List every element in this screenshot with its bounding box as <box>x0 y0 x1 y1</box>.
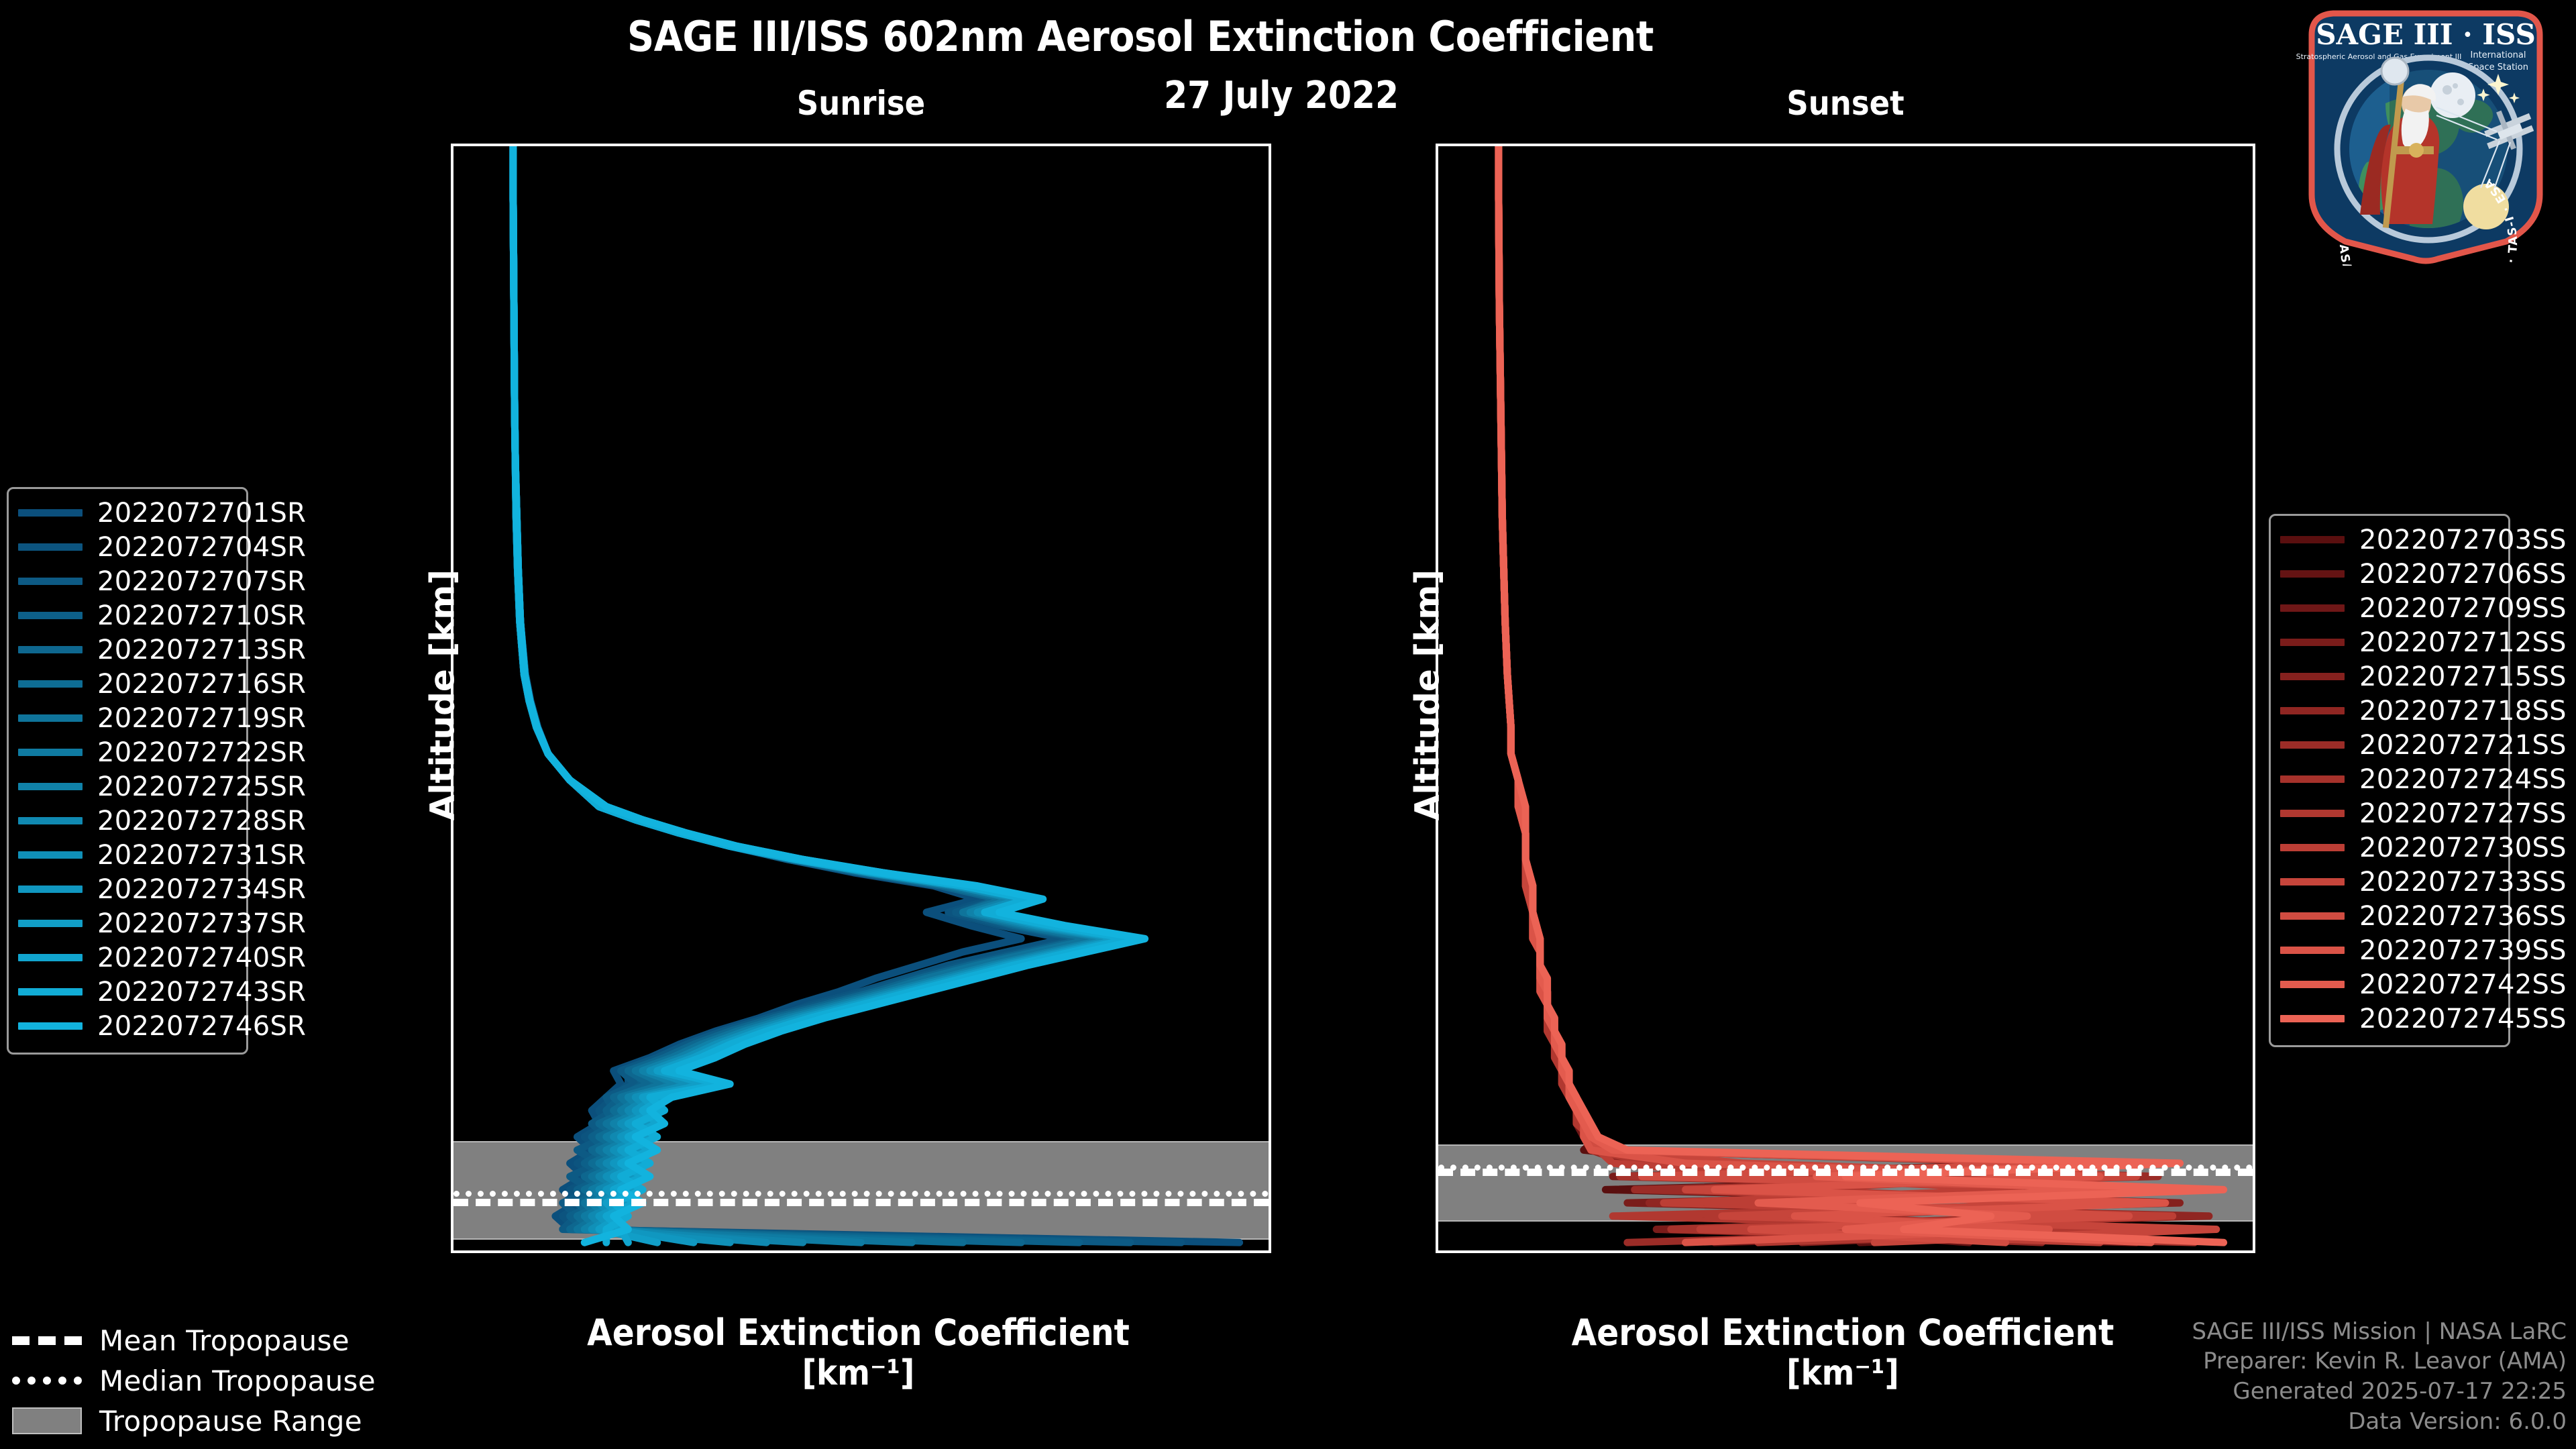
legend-color-swatch <box>2280 707 2345 714</box>
profile-line <box>1499 146 2209 1242</box>
legend-sunrise-item-row[interactable]: 2022072740SR <box>18 941 234 975</box>
legend-color-swatch <box>18 543 83 551</box>
credits-line-mission: SAGE III/ISS Mission | NASA LaRC <box>2192 1317 2567 1347</box>
profile-line <box>513 146 1094 1242</box>
x-axis-tick <box>802 1250 804 1253</box>
profile-line <box>513 146 1130 1242</box>
y-axis-title: Altitude [km] <box>1407 570 1446 821</box>
profile-line <box>513 146 1094 1242</box>
y-axis-tick <box>451 541 453 544</box>
legend-item-label: Tropopause Range <box>99 1405 362 1438</box>
legend-color-swatch <box>18 783 83 790</box>
credits-line-generated: Generated 2025-07-17 22:25 <box>2192 1377 2567 1407</box>
legend-color-swatch <box>2280 844 2345 851</box>
legend-color-swatch <box>18 749 83 756</box>
legend-color-swatch <box>18 851 83 859</box>
sunrise-plot-area <box>453 146 1269 1250</box>
y-axis-tick <box>1436 1069 1438 1072</box>
profile-line <box>513 146 1123 1242</box>
legend-item-label: 2022072730SS <box>2359 833 2567 863</box>
profile-line <box>513 146 1145 1242</box>
patch-moon <box>2430 72 2475 118</box>
legend-item-label: 2022072742SS <box>2359 969 2567 1000</box>
legend-sunrise-item-row[interactable]: 2022072719SR <box>18 701 234 735</box>
legend-sunset-item-row[interactable]: 2022072715SS <box>2280 659 2496 694</box>
legend-sunrise-item-row[interactable]: 2022072728SR <box>18 804 234 838</box>
patch-subtitle-right-1: International <box>2471 50 2526 60</box>
y-axis-tick <box>1436 145 1438 148</box>
legend-item-label: 2022072716SR <box>97 669 306 700</box>
profile-line <box>1499 146 2158 1242</box>
legend-color-swatch <box>2280 570 2345 578</box>
x-axis-title: Aerosol Extinction Coefficient[km⁻¹] <box>451 1312 1266 1394</box>
legend-color-swatch <box>18 988 83 996</box>
legend-color-swatch <box>18 714 83 722</box>
legend-item-label: 2022072715SS <box>2359 661 2567 692</box>
legend-sunrise-item-row[interactable]: 2022072725SR <box>18 769 234 804</box>
profile-line <box>1499 146 2165 1242</box>
legend-color-swatch <box>18 1022 83 1030</box>
legend-color-swatch <box>18 954 83 961</box>
legend-item-label: 2022072703SS <box>2359 525 2567 555</box>
sunrise-panel-title: Sunrise <box>451 84 1271 123</box>
profile-line <box>513 146 1181 1242</box>
profile-line <box>1499 146 2165 1242</box>
legend-color-swatch <box>18 920 83 927</box>
legend-color-swatch <box>2280 947 2345 954</box>
legend-color-swatch <box>18 612 83 619</box>
legend-sunset-item-row[interactable]: 2022072706SS <box>2280 557 2496 591</box>
profile-lines <box>453 146 1269 1250</box>
legend-color-swatch <box>2280 878 2345 885</box>
x-axis-tick <box>1641 1250 1644 1253</box>
legend-sunrise-item-row[interactable]: 2022072710SR <box>18 598 234 633</box>
profile-line <box>513 146 1116 1242</box>
tropopause-dotted-swatch <box>12 1377 82 1385</box>
legend-item-label: 2022072704SR <box>97 532 306 563</box>
legend-item-label: 2022072727SS <box>2359 798 2567 829</box>
profile-line <box>1499 146 2151 1242</box>
legend-sunset-item-row[interactable]: 2022072730SS <box>2280 830 2496 865</box>
x-axis-tick <box>2222 1250 2225 1253</box>
profile-line <box>513 146 1130 1242</box>
legend-sunset-item-row[interactable]: 2022072721SS <box>2280 728 2496 762</box>
mean-tropopause-line <box>1438 1169 2253 1176</box>
legend-item-label: 2022072733SS <box>2359 867 2567 898</box>
legend-sunrise-item-row[interactable]: 2022072737SR <box>18 906 234 941</box>
profile-line <box>1499 146 2158 1242</box>
legend-item-label: 2022072707SR <box>97 566 306 597</box>
y-axis-tick <box>1436 277 1438 280</box>
legend-item-label: 2022072724SS <box>2359 764 2567 795</box>
x-axis-title-text: Aerosol Extinction Coefficient <box>1572 1311 2114 1354</box>
legend-color-swatch <box>2280 810 2345 817</box>
legend-item-label: 2022072713SR <box>97 635 306 665</box>
legend-sunset-item-row[interactable]: 2022072733SS <box>2280 865 2496 899</box>
legend-color-swatch <box>18 578 83 585</box>
y-axis-tick <box>451 1069 453 1072</box>
legend-item-label: 2022072731SR <box>97 840 306 871</box>
profile-line <box>1499 146 2216 1242</box>
legend-item-label: 2022072736SS <box>2359 901 2567 932</box>
profile-line <box>1499 146 2173 1242</box>
legend-item-label: 2022072745SS <box>2359 1004 2567 1034</box>
profile-line <box>1499 146 2224 1242</box>
profile-line <box>513 146 1130 1242</box>
x-axis-tick <box>1495 1250 1498 1253</box>
legend-color-swatch <box>18 646 83 653</box>
legend-item-label: 2022072719SR <box>97 703 306 734</box>
profile-line <box>1499 146 2187 1242</box>
sunset-panel-title: Sunset <box>1436 84 2255 123</box>
legend-sunset: 2022072703SS2022072706SS2022072709SS2022… <box>2269 514 2510 1047</box>
legend-item-label: 2022072721SS <box>2359 730 2567 761</box>
median-tropopause-line <box>453 1191 1269 1197</box>
credits: SAGE III/ISS Mission | NASA LaRC Prepare… <box>2192 1317 2567 1438</box>
mean-tropopause-line <box>453 1199 1269 1206</box>
page-title: SAGE III/ISS 602nm Aerosol Extinction Co… <box>0 12 2281 61</box>
y-axis-title: Altitude [km] <box>423 570 462 821</box>
profile-line <box>513 146 1108 1242</box>
legend-sunset-item-row[interactable]: 2022072724SS <box>2280 762 2496 796</box>
profile-line <box>1499 146 2180 1242</box>
x-axis-unit: [km⁻¹] <box>451 1354 1266 1394</box>
legend-item-label: 2022072740SR <box>97 943 306 973</box>
x-axis-tick <box>1238 1250 1241 1253</box>
legend-color-swatch <box>2280 775 2345 783</box>
profile-line <box>513 146 1123 1242</box>
x-axis-tick <box>1093 1250 1095 1253</box>
legend-item-label: 2022072743SR <box>97 977 306 1008</box>
sunset-plot-area <box>1438 146 2253 1250</box>
legend-item-label: 2022072710SR <box>97 600 306 631</box>
legend-sunset-item-row[interactable]: 2022072745SS <box>2280 1002 2496 1036</box>
credits-line-preparer: Preparer: Kevin R. Leavor (AMA) <box>2192 1346 2567 1377</box>
y-axis-tick <box>1436 1201 1438 1204</box>
legend-item-label: 2022072709SS <box>2359 593 2567 624</box>
legend-item-label: 2022072712SS <box>2359 627 2567 658</box>
profile-line <box>1499 146 2194 1242</box>
profile-line <box>1499 146 2173 1242</box>
legend-item-label: 2022072728SR <box>97 806 306 837</box>
y-axis-tick <box>451 145 453 148</box>
legend-item-label: Median Tropopause <box>99 1364 376 1397</box>
legend-sunset-item-row[interactable]: 2022072739SS <box>2280 933 2496 967</box>
legend-tropopause-row[interactable]: Mean Tropopause <box>12 1320 428 1360</box>
legend-sunrise-item-row[interactable]: 2022072722SR <box>18 735 234 769</box>
legend-sunrise-item-row[interactable]: 2022072707SR <box>18 564 234 598</box>
legend-tropopause-row[interactable]: Median Tropopause <box>12 1360 428 1401</box>
legend-item-label: 2022072737SR <box>97 908 306 939</box>
patch-title: SAGE III · ISS <box>2316 18 2536 51</box>
legend-color-swatch <box>2280 536 2345 543</box>
legend-sunset-item-row[interactable]: 2022072703SS <box>2280 523 2496 557</box>
legend-sunset-item-row[interactable]: 2022072736SS <box>2280 899 2496 933</box>
legend-sunrise-item-row[interactable]: 2022072713SR <box>18 633 234 667</box>
legend-sunset-item-row[interactable]: 2022072718SS <box>2280 694 2496 728</box>
legend-sunrise: 2022072701SR2022072704SR2022072707SR2022… <box>7 487 248 1055</box>
legend-sunset-item-row[interactable]: 2022072727SS <box>2280 796 2496 830</box>
credits-line-version: Data Version: 6.0.0 <box>2192 1407 2567 1437</box>
legend-color-swatch <box>18 680 83 688</box>
legend-sunrise-item-row[interactable]: 2022072731SR <box>18 838 234 872</box>
profile-line <box>513 146 1240 1242</box>
legend-sunrise-item-row[interactable]: 2022072704SR <box>18 530 234 564</box>
y-axis-tick <box>451 277 453 280</box>
legend-item-label: 2022072706SS <box>2359 559 2567 590</box>
y-axis-tick <box>1436 409 1438 412</box>
legend-item-label: 2022072734SR <box>97 874 306 905</box>
legend-sunrise-item-row[interactable]: 2022072743SR <box>18 975 234 1009</box>
x-axis-tick <box>656 1250 659 1253</box>
tropopause-band-swatch <box>12 1407 82 1434</box>
legend-sunset-item-row[interactable]: 2022072712SS <box>2280 625 2496 659</box>
y-axis-tick <box>1436 541 1438 544</box>
x-axis-tick <box>511 1250 513 1253</box>
x-axis-title-text: Aerosol Extinction Coefficient <box>587 1311 1130 1354</box>
y-axis-tick <box>1436 937 1438 940</box>
tropopause-dashed-swatch <box>12 1336 82 1345</box>
legend-color-swatch <box>2280 912 2345 920</box>
legend-tropopause: Mean TropopauseMedian TropopauseTropopau… <box>12 1320 428 1441</box>
legend-sunrise-item-row[interactable]: 2022072716SR <box>18 667 234 701</box>
legend-tropopause-row[interactable]: Tropopause Range <box>12 1401 428 1441</box>
legend-sunrise-item-row[interactable]: 2022072746SR <box>18 1009 234 1043</box>
x-axis-unit: [km⁻¹] <box>1436 1354 2250 1394</box>
profile-line <box>513 146 1102 1242</box>
sage-iii-iss-mission-patch: SAGE III · ISS Stratospheric Aerosol and… <box>2285 3 2567 266</box>
legend-color-swatch <box>18 817 83 824</box>
y-axis-tick <box>451 409 453 412</box>
legend-color-swatch <box>2280 981 2345 988</box>
legend-color-swatch <box>18 885 83 893</box>
profile-line <box>513 146 1116 1242</box>
x-axis-tick <box>2077 1250 2080 1253</box>
legend-item-label: 2022072746SR <box>97 1011 306 1042</box>
legend-item-label: 2022072701SR <box>97 498 306 529</box>
profile-line <box>513 146 1138 1242</box>
legend-item-label: 2022072739SS <box>2359 935 2567 966</box>
legend-item-label: 2022072722SR <box>97 737 306 768</box>
legend-color-swatch <box>2280 639 2345 646</box>
legend-sunrise-item-row[interactable]: 2022072734SR <box>18 872 234 906</box>
x-axis-tick <box>1786 1250 1788 1253</box>
legend-color-swatch <box>2280 741 2345 749</box>
y-axis-tick <box>451 1201 453 1204</box>
legend-item-label: Mean Tropopause <box>99 1324 350 1357</box>
x-axis-tick <box>1931 1250 1934 1253</box>
x-axis-title: Aerosol Extinction Coefficient[km⁻¹] <box>1436 1312 2250 1394</box>
y-axis-tick <box>451 937 453 940</box>
legend-color-swatch <box>2280 1015 2345 1022</box>
sunset-plot: 1015202530354045500.0000.0020.0040.0060.… <box>1436 144 2255 1253</box>
profile-line <box>1499 146 2202 1242</box>
legend-sunrise-item-row[interactable]: 2022072701SR <box>18 496 234 530</box>
profile-line <box>513 146 1087 1242</box>
legend-item-label: 2022072725SR <box>97 771 306 802</box>
legend-sunset-item-row[interactable]: 2022072742SS <box>2280 967 2496 1002</box>
legend-sunset-item-row[interactable]: 2022072709SS <box>2280 591 2496 625</box>
x-axis-tick <box>947 1250 950 1253</box>
profile-lines <box>1438 146 2253 1250</box>
legend-item-label: 2022072718SS <box>2359 696 2567 727</box>
profile-line <box>1499 146 2151 1242</box>
legend-color-swatch <box>2280 604 2345 612</box>
legend-color-swatch <box>18 509 83 517</box>
sunrise-plot: 1015202530354045500.0000.0020.0040.0060.… <box>451 144 1271 1253</box>
legend-color-swatch <box>2280 673 2345 680</box>
